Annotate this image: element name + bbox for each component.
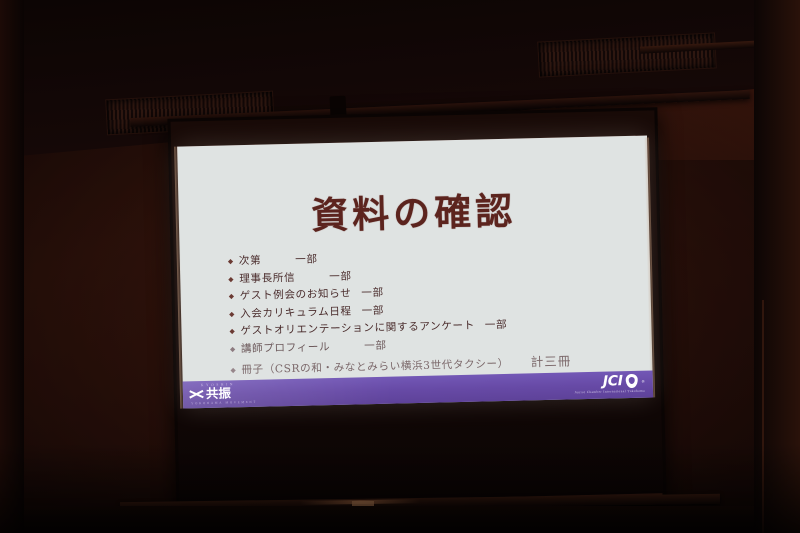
right-wall-seam: [762, 300, 764, 533]
list-item-qty: 一部: [364, 337, 387, 353]
projection-screen: 資料の確認 ◆ 次第 一部 ◆ 理事長所信 一部 ◆ ゲスト例会のお知らせ 一部: [167, 107, 666, 510]
location-pin-icon: [626, 374, 638, 388]
floor: [0, 506, 800, 533]
list-item-qty: 一部: [295, 251, 318, 267]
auditorium-scene: 資料の確認 ◆ 次第 一部 ◆ 理事長所信 一部 ◆ ゲスト例会のお知らせ 一部: [0, 0, 800, 533]
kyoshin-logo-sub-text: YOKOHAMA MOVEMENT: [191, 399, 279, 405]
list-item-qty: 一部: [485, 317, 508, 333]
diamond-bullet-icon: ◆: [228, 258, 239, 265]
right-pillar: [754, 0, 800, 533]
list-item-qty: 一部: [329, 268, 352, 284]
list-item-label: 理事長所信: [239, 269, 295, 285]
diamond-bullet-icon: ◆: [229, 328, 240, 335]
list-item-label: 入会カリキュラム日程: [240, 303, 352, 321]
list-item-label: 次第: [239, 253, 262, 269]
kyoshin-logo-main: 共振: [189, 386, 279, 400]
list-item-qty: 計三冊: [531, 350, 572, 370]
diamond-bullet-icon: ◆: [229, 293, 240, 300]
x-mark-icon: [189, 388, 204, 399]
left-pillar: [0, 0, 24, 533]
list-item-label: 講師プロフィール: [241, 339, 331, 356]
slide-bullet-list: ◆ 次第 一部 ◆ 理事長所信 一部 ◆ ゲスト例会のお知らせ 一部 ◆ 入会カ…: [228, 244, 631, 380]
diamond-bullet-icon: ◆: [230, 367, 241, 374]
jci-logo: JCI ® Junior Chamber International Yokoh…: [574, 374, 645, 395]
jci-logo-row: JCI ®: [603, 374, 645, 389]
list-item-label: ゲスト例会のお知らせ: [239, 286, 351, 304]
kyoshin-logo: KYOSHIN 共振 YOKOHAMA MOVEMENT: [189, 381, 280, 407]
list-item-qty: 一部: [361, 285, 384, 301]
list-item-qty: 一部: [361, 302, 384, 318]
diamond-bullet-icon: ◆: [230, 346, 241, 353]
kyoshin-logo-name: 共振: [206, 387, 231, 400]
screen-mount-bracket: [329, 96, 346, 117]
registered-mark: ®: [642, 378, 645, 383]
jci-wordmark: JCI: [603, 374, 623, 388]
diamond-bullet-icon: ◆: [228, 276, 239, 283]
diamond-bullet-icon: ◆: [229, 311, 240, 318]
slide-title: 資料の確認: [178, 178, 649, 243]
